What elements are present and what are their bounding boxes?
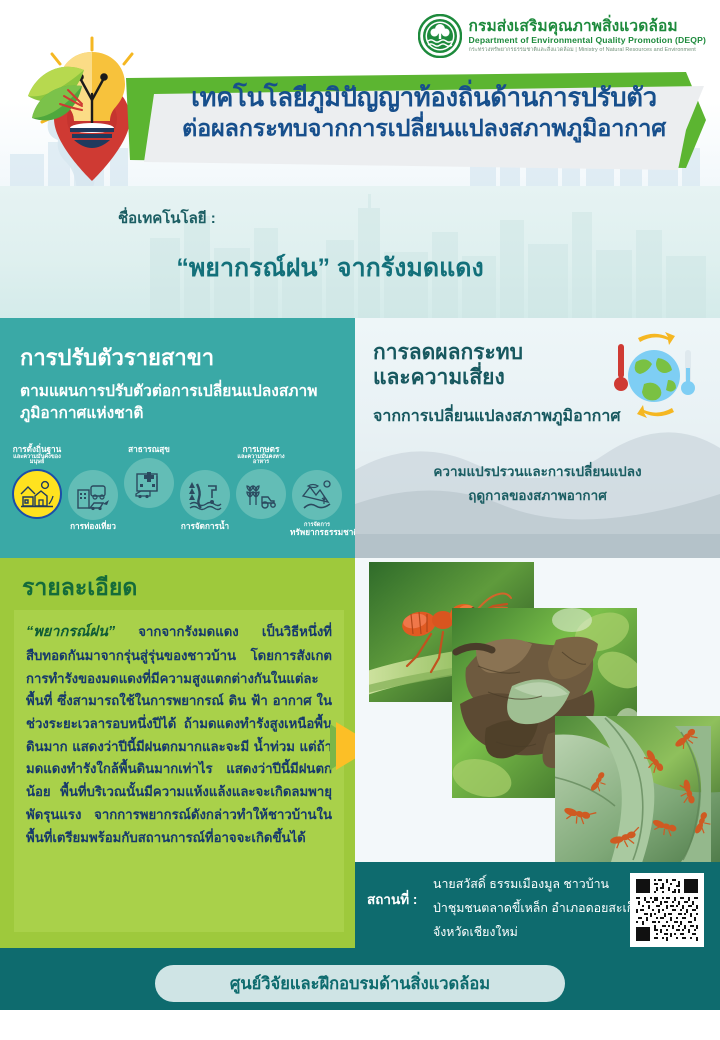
sector-icon-row: การตั้งถิ่นฐาน และความมั่นคงของมนุษย์	[8, 446, 348, 550]
public-health-hospital-icon	[124, 458, 174, 508]
footer-organization-label: ศูนย์วิจัยและฝึกอบรมด้านสิ่งแวดล้อม	[230, 971, 490, 997]
deqp-logo-lockup: กรมส่งเสริมคุณภาพสิ่งแวดล้อม Department …	[418, 14, 706, 58]
org-name-th: กรมส่งเสริมคุณภาพสิ่งแวดล้อม	[469, 19, 706, 36]
note-line-2: ฤดูกาลของสภาพอากาศ	[355, 484, 720, 508]
sector-item-natural-resources[interactable]: การจัดการ ทรัพยากรธรรมชาติ	[290, 470, 344, 537]
org-ministry-line: กระทรวงทรัพยากรธรรมชาติและสิ่งแวดล้อม | …	[469, 48, 706, 54]
poster-root: กรมส่งเสริมคุณภาพสิ่งแวดล้อม Department …	[0, 0, 720, 1040]
water-management-icon	[180, 470, 230, 520]
sector-label-natural-resources: การจัดการ ทรัพยากรธรรมชาติ	[290, 523, 344, 537]
detail-lead-phrase: “พยากรณ์ฝน”	[26, 624, 115, 640]
tourism-city-car-icon	[68, 470, 118, 520]
mitigation-title-line-2: และความเสี่ยง	[373, 365, 593, 390]
org-name-en: Department of Environmental Quality Prom…	[469, 36, 706, 45]
detail-paragraph: “พยากรณ์ฝน” จากจากรังมดแดง เป็นวิธีหนึ่ง…	[26, 620, 332, 849]
title-line-2: ต่อผลกระทบจากการเปลี่ยนแปลงสภาพภูมิอากาศ	[154, 115, 694, 141]
hot-thermometer-icon	[614, 344, 628, 391]
detail-section-title: รายละเอียด	[22, 570, 358, 606]
sector-item-agriculture[interactable]: การเกษตร และความมั่นคงทางอาหาร	[234, 446, 288, 519]
cold-thermometer-icon	[681, 350, 695, 395]
poster-title-ribbon: เทคโนโลยีภูมิปัญญาท้องถิ่นด้านการปรับตัว…	[126, 72, 706, 172]
poster-footer: ศูนย์วิจัยและฝึกอบรมด้านสิ่งแวดล้อม	[0, 948, 720, 1040]
mitigation-title-line-1: การลดผลกระทบ	[373, 340, 593, 365]
mitigation-risk-panel: การลดผลกระทบ และความเสี่ยง จากการเปลี่ยน…	[355, 318, 720, 558]
photo-collage	[355, 558, 720, 862]
note-line-1: ความแปรปรวนและการเปลี่ยนแปลง	[355, 460, 720, 484]
globe-thermometer-icon	[602, 328, 698, 424]
settlement-houses-icon	[12, 469, 62, 519]
sector-panel-title: การปรับตัวรายสาขา	[20, 340, 355, 375]
title-line-1: เทคโนโลยีภูมิปัญญาท้องถิ่นด้านการปรับตัว	[154, 84, 694, 113]
agriculture-wheat-tractor-icon	[236, 469, 286, 519]
sector-item-settlement[interactable]: การตั้งถิ่นฐาน และความมั่นคงของมนุษย์	[10, 446, 64, 519]
footer-white-strip	[0, 1010, 720, 1040]
detail-body-text: จากจากรังมดแดง เป็นวิธีหนึ่งที่สืบทอดกัน…	[26, 624, 332, 845]
deqp-tree-water-logo-icon	[418, 14, 462, 58]
weaver-ants-on-leaves-photo	[555, 716, 720, 862]
sector-item-tourism[interactable]: การท่องเที่ยว	[66, 470, 120, 532]
sector-label-water: การจัดการน้ำ	[178, 523, 232, 532]
page-title: เทคโนโลยีภูมิปัญญาท้องถิ่นด้านการปรับตัว…	[154, 84, 694, 141]
technology-name-label: ชื่อเทคโนโลยี :	[118, 206, 216, 230]
sector-adaptation-panel: การปรับตัวรายสาขา ตามแผนการปรับตัวต่อการ…	[0, 318, 355, 558]
sector-item-public-health[interactable]: สาธารณสุข	[122, 446, 176, 508]
sector-label-settlement: การตั้งถิ่นฐาน และความมั่นคงของมนุษย์	[10, 446, 64, 466]
natural-resources-mountain-icon	[292, 470, 342, 520]
sector-item-water[interactable]: การจัดการน้ำ	[178, 470, 232, 532]
sector-label-tourism: การท่องเที่ยว	[66, 523, 120, 532]
sector-label-public-health: สาธารณสุข	[122, 446, 176, 455]
qr-code-icon[interactable]	[630, 873, 704, 947]
technology-name-value: “พยากรณ์ฝน” จากรังมดแดง	[0, 248, 660, 288]
mitigation-panel-title: การลดผลกระทบ และความเสี่ยง	[373, 340, 593, 390]
detail-text-box: “พยากรณ์ฝน” จากจากรังมดแดง เป็นวิธีหนึ่ง…	[14, 610, 344, 932]
location-label: สถานที่ :	[367, 888, 417, 910]
sector-panel-subtitle: ตามแผนการปรับตัวต่อการเปลี่ยนแปลงสภาพภูม…	[20, 381, 330, 425]
technology-name-band: ชื่อเทคโนโลยี : “พยากรณ์ฝน” จากรังมดแดง	[0, 186, 720, 318]
detail-panel: รายละเอียด “พยากรณ์ฝน” จากจากรังมดแดง เป…	[0, 558, 358, 948]
poster-header: กรมส่งเสริมคุณภาพสิ่งแวดล้อม Department …	[0, 0, 720, 186]
sector-label-agriculture: การเกษตร และความมั่นคงทางอาหาร	[234, 446, 288, 466]
footer-organization-pill: ศูนย์วิจัยและฝึกอบรมด้านสิ่งแวดล้อม	[155, 965, 565, 1002]
climate-variability-note: ความแปรปรวนและการเปลี่ยนแปลง ฤดูกาลของสภ…	[355, 460, 720, 507]
